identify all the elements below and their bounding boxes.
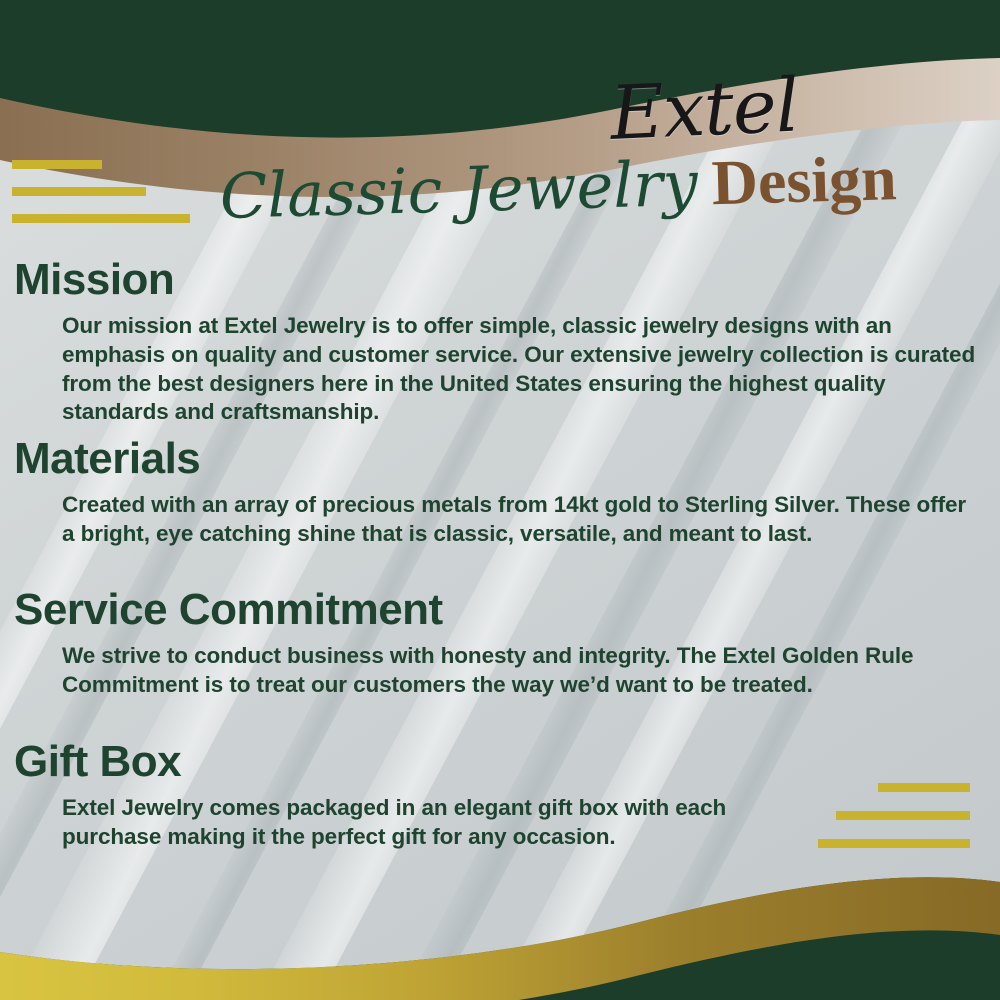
brand-wordmark: Extel bbox=[609, 67, 842, 151]
section-service-commitment: Service Commitment We strive to conduct … bbox=[0, 588, 1000, 700]
section-body-gift-box: Extel Jewelry comes packaged in an elega… bbox=[0, 784, 1000, 852]
section-body-materials: Created with an array of precious metals… bbox=[0, 481, 1000, 549]
section-body-mission: Our mission at Extel Jewelry is to offer… bbox=[0, 302, 1000, 427]
decor-bar bbox=[12, 214, 190, 223]
decor-bar bbox=[12, 160, 102, 169]
section-body-service-commitment: We strive to conduct business with hones… bbox=[0, 632, 1000, 700]
section-mission: Mission Our mission at Extel Jewelry is … bbox=[0, 258, 1000, 427]
section-title-gift-box: Gift Box bbox=[0, 740, 1000, 784]
section-gift-box: Gift Box Extel Jewelry comes packaged in… bbox=[0, 740, 1000, 852]
decor-bars-top-left bbox=[12, 160, 190, 223]
poster-canvas: Extel Classic JewelryDesign Mission Our … bbox=[0, 0, 1000, 1000]
headline-script-text: Classic Jewelry bbox=[219, 147, 699, 233]
section-title-service-commitment: Service Commitment bbox=[0, 588, 1000, 632]
headline: Classic JewelryDesign bbox=[219, 139, 961, 240]
section-title-materials: Materials bbox=[0, 437, 1000, 481]
decor-bar bbox=[12, 187, 146, 196]
section-title-mission: Mission bbox=[0, 258, 1000, 302]
headline-serif-text: Design bbox=[711, 142, 898, 218]
section-materials: Materials Created with an array of preci… bbox=[0, 437, 1000, 549]
